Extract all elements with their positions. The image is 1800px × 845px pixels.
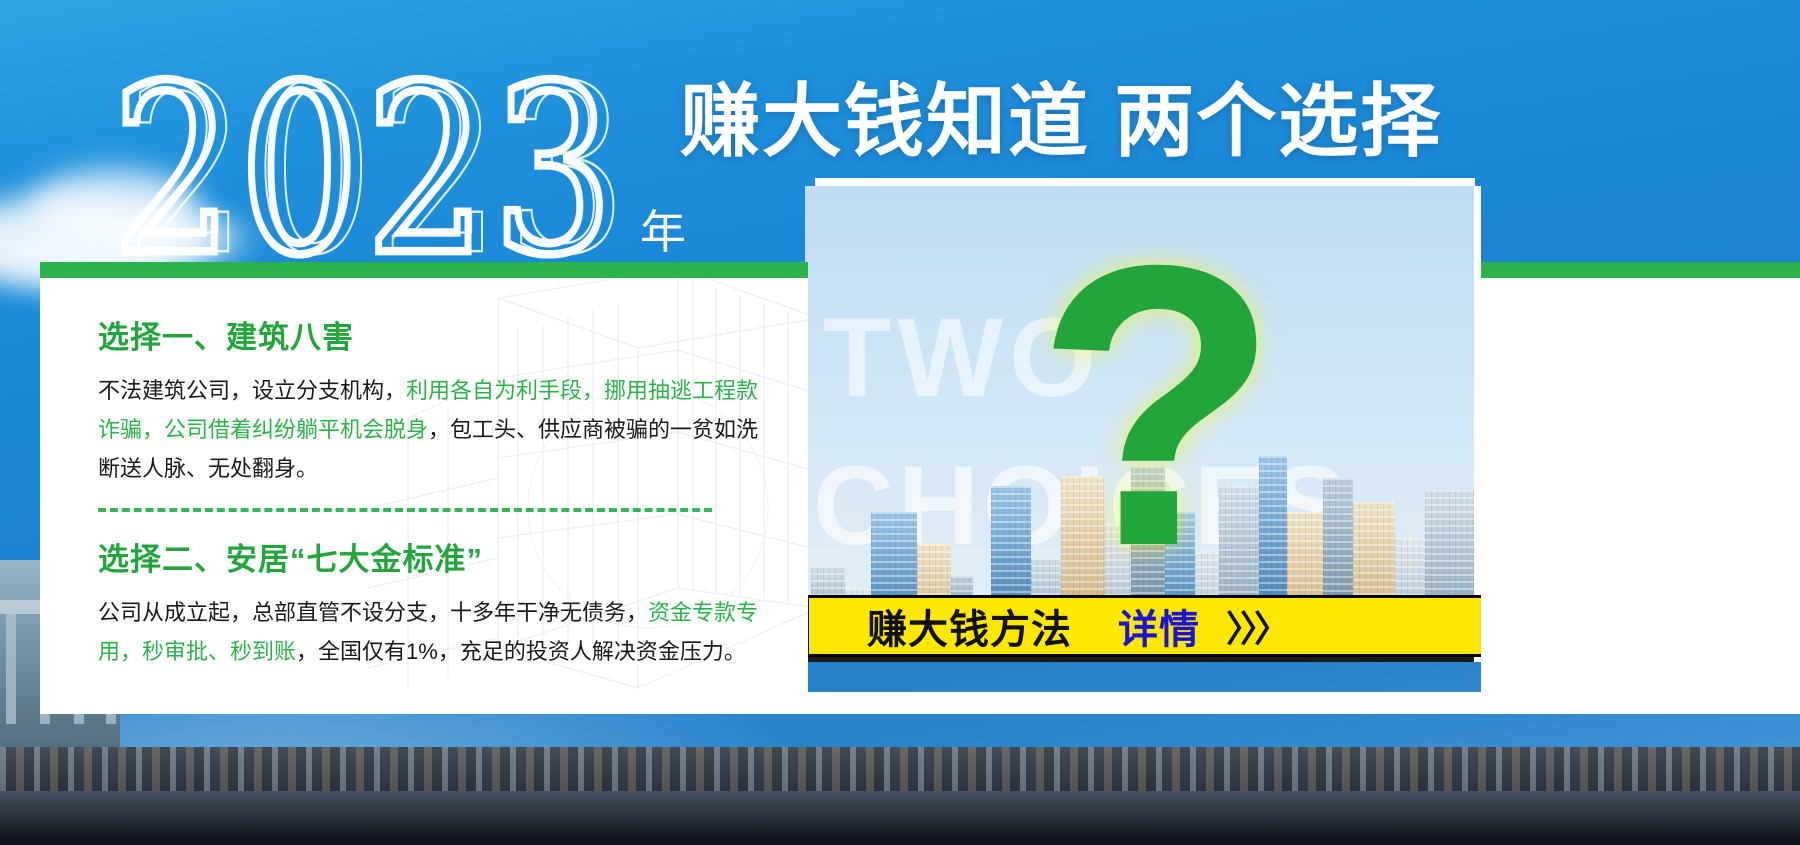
year-suffix-label: 年 bbox=[640, 196, 686, 262]
page-title: 赚大钱知道 两个选择 bbox=[680, 76, 1442, 168]
section-one-body: 不法建筑公司，设立分支机构，利用各自为利手段，挪用抽逃工程款诈骗，公司借着纠纷躺… bbox=[98, 371, 778, 488]
section-two-title: 选择二、安居“七大金标准” bbox=[98, 534, 778, 579]
right-image-panel: TWO CHOICES ? bbox=[805, 186, 1481, 662]
section-one-title: 选择一、建筑八害 bbox=[98, 312, 778, 357]
body-text-plain: ，全国仅有1%，充足的投资人解决资金压力。 bbox=[296, 639, 746, 664]
card-top-green-bar bbox=[40, 262, 808, 278]
body-text-plain: 不法建筑公司，设立分支机构， bbox=[98, 378, 406, 403]
body-text-plain: 公司从成立起，总部直管不设分支，十多年干净无债务， bbox=[98, 600, 648, 625]
content-card: 选择一、建筑八害 不法建筑公司，设立分支机构，利用各自为利手段，挪用抽逃工程款诈… bbox=[40, 278, 808, 692]
right-white-panel bbox=[1481, 278, 1800, 692]
section-divider bbox=[98, 508, 712, 512]
section-two-body: 公司从成立起，总部直管不设分支，十多年干净无债务，资金专款专用，秒审批、秒到账，… bbox=[98, 593, 778, 671]
poster-canvas: 2023 2023 年 赚大钱知道 两个选择 TWO CHOICES bbox=[0, 0, 1800, 845]
year-outline: 2023 bbox=[112, 62, 620, 282]
cta-banner[interactable]: 赚大钱方法 详情 〉〉〉 bbox=[806, 595, 1484, 657]
card-bottom-band bbox=[40, 692, 1800, 714]
cta-detail-link[interactable]: 详情 bbox=[1118, 597, 1200, 655]
right-green-bar bbox=[1481, 262, 1800, 278]
cta-main-label: 赚大钱方法 bbox=[867, 597, 1072, 655]
question-mark-graphic: ? bbox=[1035, 206, 1279, 606]
chevron-right-icon: 〉〉〉 bbox=[1226, 600, 1286, 652]
title-underline-rule bbox=[815, 178, 1475, 186]
bottom-reflection-strip bbox=[0, 747, 1800, 845]
